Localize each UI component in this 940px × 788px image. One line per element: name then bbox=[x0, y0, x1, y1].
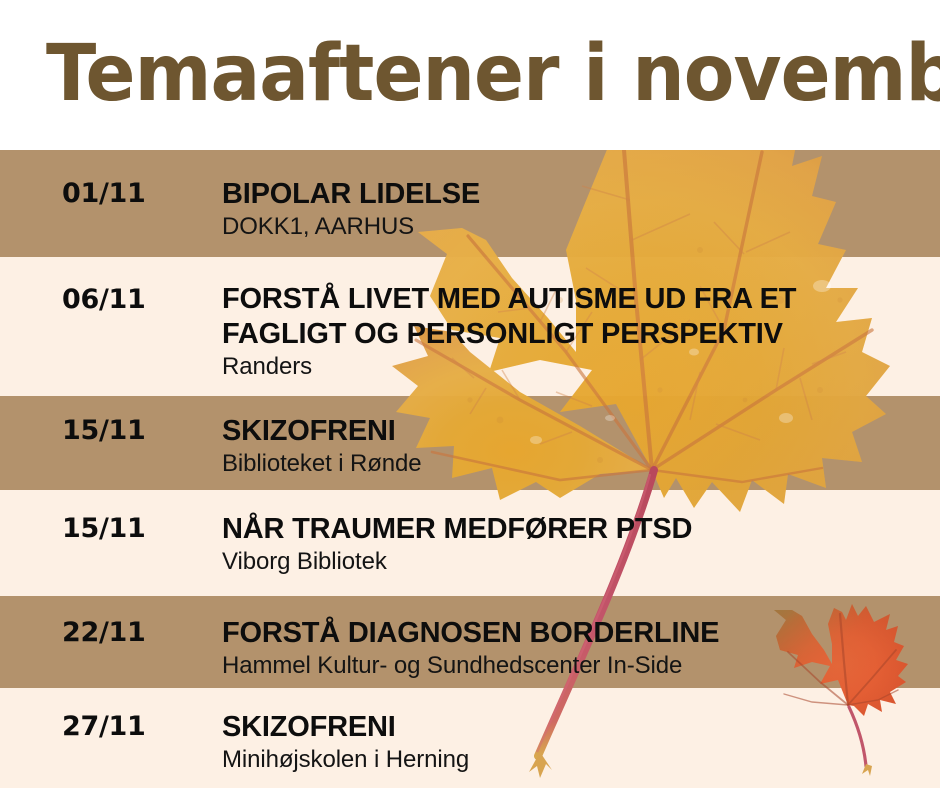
event-date: 06/11 bbox=[62, 284, 146, 316]
page-title: Temaaftener i november bbox=[46, 26, 940, 122]
event-date: 01/11 bbox=[62, 178, 146, 210]
event-title: SKIZOFRENI bbox=[222, 710, 930, 745]
event-body: FORSTÅ DIAGNOSEN BORDERLINEHammel Kultur… bbox=[222, 616, 930, 681]
event-date: 22/11 bbox=[62, 617, 146, 649]
event-title: BIPOLAR LIDELSE bbox=[222, 177, 930, 212]
poster-canvas: Temaaftener i november 01/11BIPOLAR LIDE… bbox=[0, 0, 940, 788]
event-body: NÅR TRAUMER MEDFØRER PTSDViborg Bibliote… bbox=[222, 512, 930, 577]
event-location: Biblioteket i Rønde bbox=[222, 449, 930, 479]
event-location: Viborg Bibliotek bbox=[222, 547, 930, 577]
event-location: Hammel Kultur- og Sundhedscenter In-Side bbox=[222, 651, 930, 681]
event-body: FORSTÅ LIVET MED AUTISME UD FRA ET FAGLI… bbox=[222, 282, 930, 382]
event-location: DOKK1, AARHUS bbox=[222, 212, 930, 242]
event-body: SKIZOFRENIMinihøjskolen i Herning bbox=[222, 710, 930, 775]
event-title: FORSTÅ DIAGNOSEN BORDERLINE bbox=[222, 616, 930, 651]
event-body: BIPOLAR LIDELSEDOKK1, AARHUS bbox=[222, 177, 930, 242]
event-location: Randers bbox=[222, 352, 930, 382]
poster-header: Temaaftener i november bbox=[0, 0, 940, 150]
event-body: SKIZOFRENIBiblioteket i Rønde bbox=[222, 414, 930, 479]
event-date: 27/11 bbox=[62, 711, 146, 743]
event-title: NÅR TRAUMER MEDFØRER PTSD bbox=[222, 512, 930, 547]
event-date: 15/11 bbox=[62, 415, 146, 447]
event-title: SKIZOFRENI bbox=[222, 414, 930, 449]
event-title: FORSTÅ LIVET MED AUTISME UD FRA ET FAGLI… bbox=[222, 282, 930, 352]
event-date: 15/11 bbox=[62, 513, 146, 545]
event-location: Minihøjskolen i Herning bbox=[222, 745, 930, 775]
